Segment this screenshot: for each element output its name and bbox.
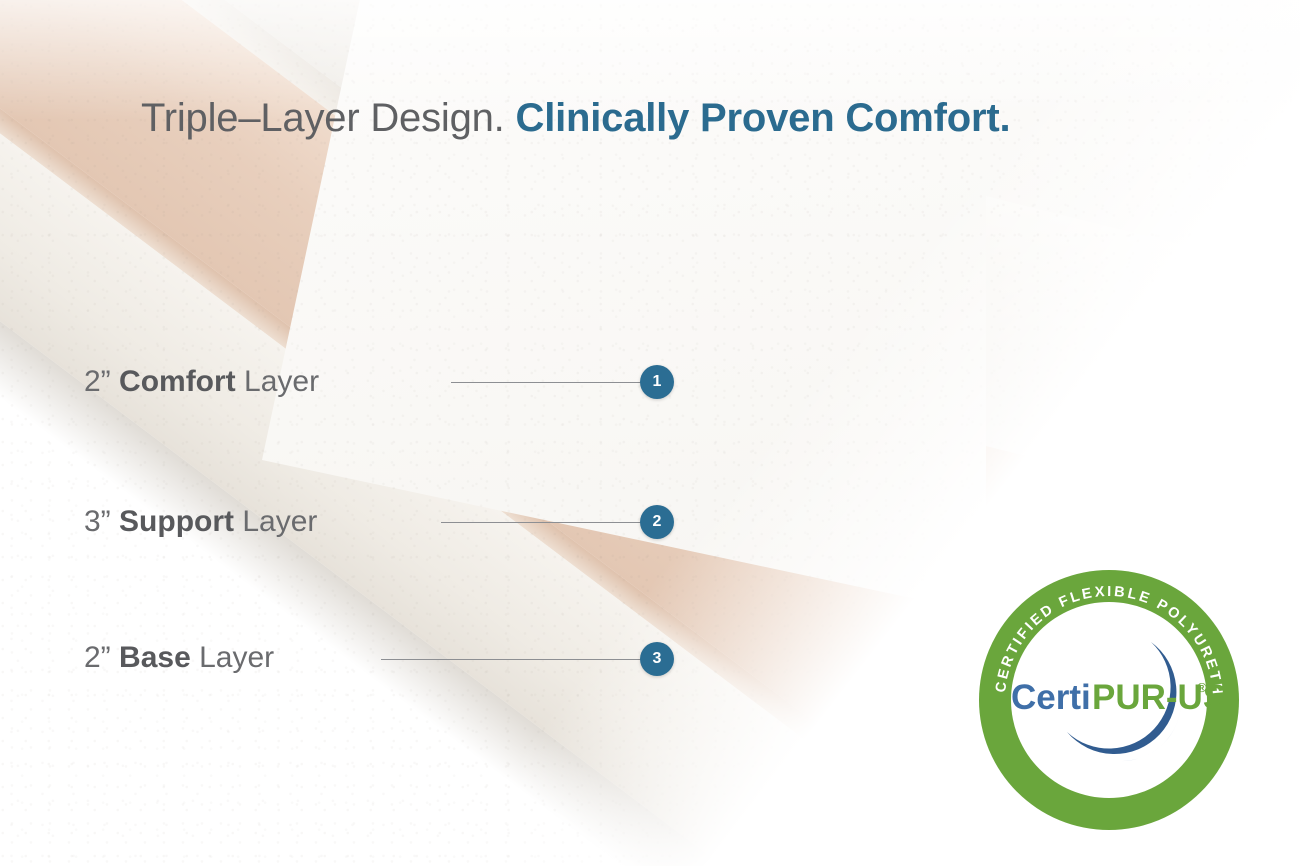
support-thickness: 3” xyxy=(84,505,111,538)
seal-registered-mark: ® xyxy=(1197,680,1207,695)
layer-callout-base: 2” Base Layer xyxy=(84,641,274,675)
leader-line-comfort xyxy=(451,382,645,383)
layer-badge-2[interactable]: 2 xyxy=(640,505,674,539)
layer-callout-support: 3” Support Layer xyxy=(84,505,317,539)
headline-accent: Clinically Proven Comfort. xyxy=(516,96,1011,140)
page-title: Triple–Layer Design. Clinically Proven C… xyxy=(141,96,1010,141)
leader-line-base xyxy=(381,659,645,660)
base-name: Base xyxy=(119,641,191,674)
seal-wordmark: Certi PUR-US ® xyxy=(1011,678,1226,717)
support-suffix: Layer xyxy=(242,505,317,538)
base-thickness: 2” xyxy=(84,641,111,674)
layer-callout-comfort-label: 2” Comfort Layer xyxy=(84,365,319,399)
layer-callout-base-label: 2” Base Layer xyxy=(84,641,274,675)
headline-lead: Triple–Layer Design. xyxy=(141,96,505,140)
seal-wordmark-first: Certi xyxy=(1011,678,1091,717)
comfort-name: Comfort xyxy=(119,365,236,398)
layer-callout-support-label: 3” Support Layer xyxy=(84,505,317,539)
comfort-suffix: Layer xyxy=(244,365,319,398)
comfort-thickness: 2” xyxy=(84,365,111,398)
base-suffix: Layer xyxy=(199,641,274,674)
layer-badge-3[interactable]: 3 xyxy=(640,642,674,676)
leader-line-support xyxy=(441,522,645,523)
layer-badge-1[interactable]: 1 xyxy=(640,365,674,399)
support-name: Support xyxy=(119,505,234,538)
layer-callout-comfort: 2” Comfort Layer xyxy=(84,365,319,399)
certipur-us-seal[interactable]: CONTAINS CERTIFIED FLEXIBLE POLYURETHANE… xyxy=(975,566,1243,834)
infographic-canvas: Triple–Layer Design. Clinically Proven C… xyxy=(0,0,1300,866)
